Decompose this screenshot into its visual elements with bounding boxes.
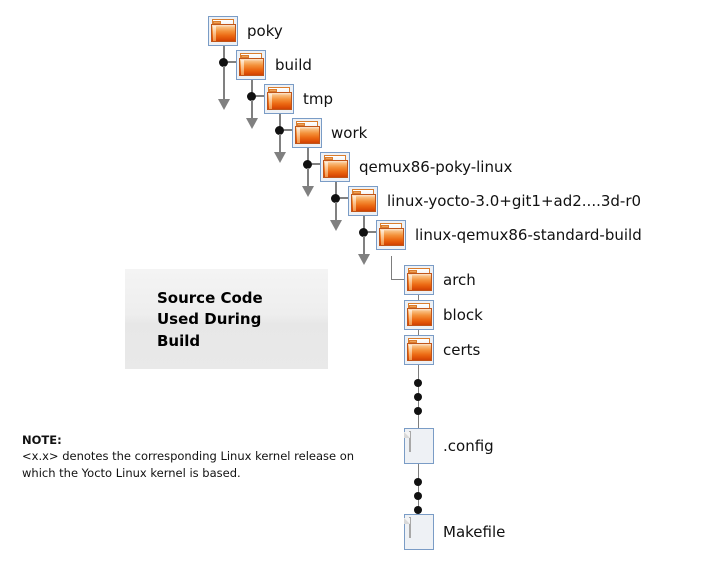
connector-stdbuild-elbow-vertical xyxy=(391,256,392,280)
arrowhead-build xyxy=(246,118,258,129)
arrowhead-poky xyxy=(218,99,230,110)
folder-icon xyxy=(292,118,322,148)
ellipsis-dot-6 xyxy=(414,506,422,514)
connector-linuxyocto-down xyxy=(363,236,365,256)
folder-icon xyxy=(376,220,406,250)
connector-build-down xyxy=(251,100,253,120)
diagram-canvas: poky build tmp work qemux86-poky-linux l… xyxy=(0,0,705,581)
arrowhead-qemux86 xyxy=(330,220,342,231)
tree-node-label-config: .config xyxy=(443,439,494,454)
tree-node-makefile[interactable]: Makefile xyxy=(404,514,505,550)
folder-icon xyxy=(236,50,266,80)
folder-icon xyxy=(208,16,238,46)
tree-node-work[interactable]: work xyxy=(292,118,367,148)
arrowhead-linuxyocto xyxy=(358,254,370,265)
tree-node-label-linux-yocto: linux-yocto-3.0+git1+ad2....3d-r0 xyxy=(387,194,641,209)
ellipsis-dot-4 xyxy=(414,478,422,486)
tree-node-label-certs: certs xyxy=(443,343,480,358)
connector-tmp-down xyxy=(279,134,281,154)
tree-node-linux-yocto[interactable]: linux-yocto-3.0+git1+ad2....3d-r0 xyxy=(348,186,641,216)
folder-icon xyxy=(264,84,294,114)
ellipsis-dot-2 xyxy=(414,393,422,401)
tree-node-config[interactable]: .config xyxy=(404,428,494,464)
callout-box: Source Code Used During Build xyxy=(125,269,328,369)
folder-icon xyxy=(320,152,350,182)
tree-node-label-linux-qemux86-standard-build: linux-qemux86-standard-build xyxy=(415,228,642,243)
ellipsis-dot-3 xyxy=(414,407,422,415)
note-block: NOTE: <x.x> denotes the corresponding Li… xyxy=(22,432,382,481)
tree-node-label-work: work xyxy=(331,126,367,141)
tree-node-label-arch: arch xyxy=(443,273,476,288)
arrowhead-tmp xyxy=(274,152,286,163)
connector-poky-down xyxy=(223,66,225,100)
tree-node-certs[interactable]: certs xyxy=(404,335,480,365)
tree-node-arch[interactable]: arch xyxy=(404,265,476,295)
tree-node-label-tmp: tmp xyxy=(303,92,333,107)
tree-node-label-poky: poky xyxy=(247,24,283,39)
ellipsis-dot-5 xyxy=(414,492,422,500)
file-icon xyxy=(404,428,434,464)
tree-node-label-makefile: Makefile xyxy=(443,525,505,540)
callout-text: Source Code Used During Build xyxy=(157,288,263,352)
folder-icon xyxy=(404,300,434,330)
tree-node-label-build: build xyxy=(275,58,312,73)
connector-stdbuild-elbow-horizontal xyxy=(391,279,405,280)
folder-icon xyxy=(404,335,434,365)
connector-qemux86-down xyxy=(335,202,337,222)
arrowhead-work xyxy=(302,186,314,197)
tree-node-build[interactable]: build xyxy=(236,50,312,80)
note-body: <x.x> denotes the corresponding Linux ke… xyxy=(22,448,382,481)
tree-node-tmp[interactable]: tmp xyxy=(264,84,333,114)
tree-node-qemux86-poky-linux[interactable]: qemux86-poky-linux xyxy=(320,152,512,182)
tree-node-label-qemux86-poky-linux: qemux86-poky-linux xyxy=(359,160,512,175)
folder-icon xyxy=(404,265,434,295)
tree-node-block[interactable]: block xyxy=(404,300,483,330)
tree-node-label-block: block xyxy=(443,308,483,323)
tree-node-poky[interactable]: poky xyxy=(208,16,283,46)
tree-node-linux-qemux86-standard-build[interactable]: linux-qemux86-standard-build xyxy=(376,220,642,250)
folder-icon xyxy=(348,186,378,216)
note-title: NOTE: xyxy=(22,432,382,448)
connector-work-down xyxy=(307,168,309,188)
ellipsis-dot-1 xyxy=(414,379,422,387)
file-icon xyxy=(404,514,434,550)
